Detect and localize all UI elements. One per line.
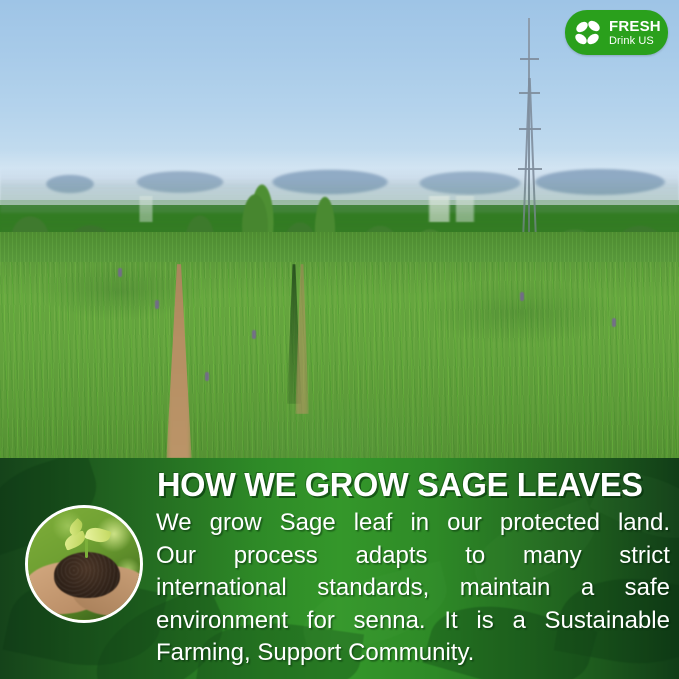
- brand-logo[interactable]: FRESH Drink US: [565, 10, 668, 55]
- leaf-cluster-icon: [571, 16, 605, 50]
- logo-text: FRESH Drink US: [609, 19, 661, 47]
- logo-tagline: Drink US: [609, 36, 661, 47]
- product-infographic: FRESH Drink US HOW WE GROW SAGE LEAVES: [0, 0, 679, 679]
- sage-bloom: [205, 372, 209, 381]
- sage-bloom: [252, 330, 256, 339]
- sage-bloom: [612, 318, 616, 327]
- body-line: environmentforsenna.ItisaSustainable: [156, 605, 670, 638]
- body-line: Ourprocessadaptstomanystrict: [156, 540, 670, 573]
- sage-field: [0, 262, 679, 458]
- hands-holding-seedling-photo: [25, 505, 143, 623]
- logo-brand-name: FRESH: [609, 19, 661, 34]
- body-line: Farming, Support Community.: [156, 637, 670, 670]
- body-line: internationalstandards,maintainasafe: [156, 572, 670, 605]
- sage-bloom: [520, 292, 524, 301]
- sage-bloom: [155, 300, 159, 309]
- banner-body-text: WegrowSageleafinourprotectedland. Ourpro…: [156, 507, 670, 670]
- banner-headline: HOW WE GROW SAGE LEAVES: [157, 468, 663, 501]
- sage-bloom: [118, 268, 122, 277]
- sage-field-photo: [0, 0, 679, 458]
- body-line: WegrowSageleafinourprotectedland.: [156, 507, 670, 540]
